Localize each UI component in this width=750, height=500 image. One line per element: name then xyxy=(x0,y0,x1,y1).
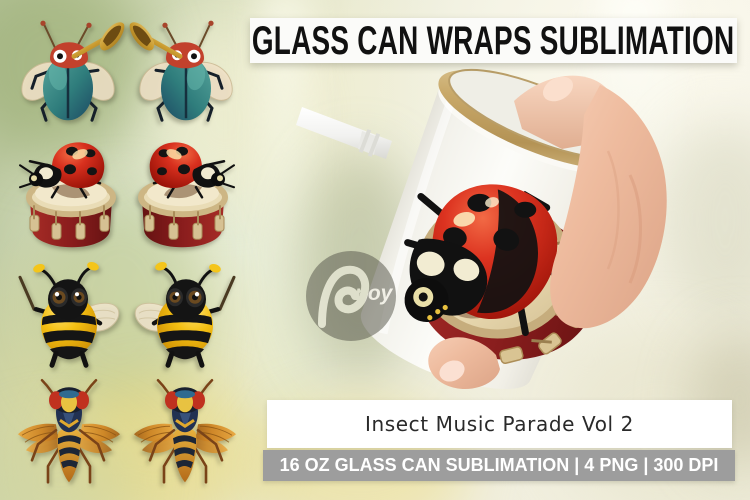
specs-banner: 16 OZ GLASS CAN SUBLIMATION | 4 PNG | 30… xyxy=(263,450,735,481)
drum-shape xyxy=(29,180,113,247)
drum-shape xyxy=(141,180,225,247)
sticker-ladybug-drum-right xyxy=(127,131,240,252)
sticker-wasp-right xyxy=(127,372,240,493)
drinking-straw xyxy=(296,107,392,159)
poster-canvas: noy xyxy=(0,0,750,500)
watermark-logo: noy xyxy=(305,250,397,342)
sticker-wasp-left xyxy=(14,372,127,493)
title-banner: GLASS CAN WRAPS SUBLIMATION xyxy=(250,18,737,63)
subtitle-banner: Insect Music Parade Vol 2 xyxy=(267,400,732,448)
watermark-brand-text: noy xyxy=(355,282,394,305)
product-subtitle: Insect Music Parade Vol 2 xyxy=(365,412,634,436)
glass-can-mockup xyxy=(300,55,730,415)
sticker-bee-conductor-right xyxy=(127,251,240,372)
sticker-beetle-trumpet-left xyxy=(14,10,127,131)
product-specs: 16 OZ GLASS CAN SUBLIMATION | 4 PNG | 30… xyxy=(280,455,719,476)
sticker-bee-conductor-left xyxy=(14,251,127,372)
page-title: GLASS CAN WRAPS SUBLIMATION xyxy=(252,17,735,63)
sticker-ladybug-drum-left xyxy=(14,131,127,252)
sticker-beetle-trumpet-right xyxy=(127,10,240,131)
sticker-grid xyxy=(14,10,240,492)
